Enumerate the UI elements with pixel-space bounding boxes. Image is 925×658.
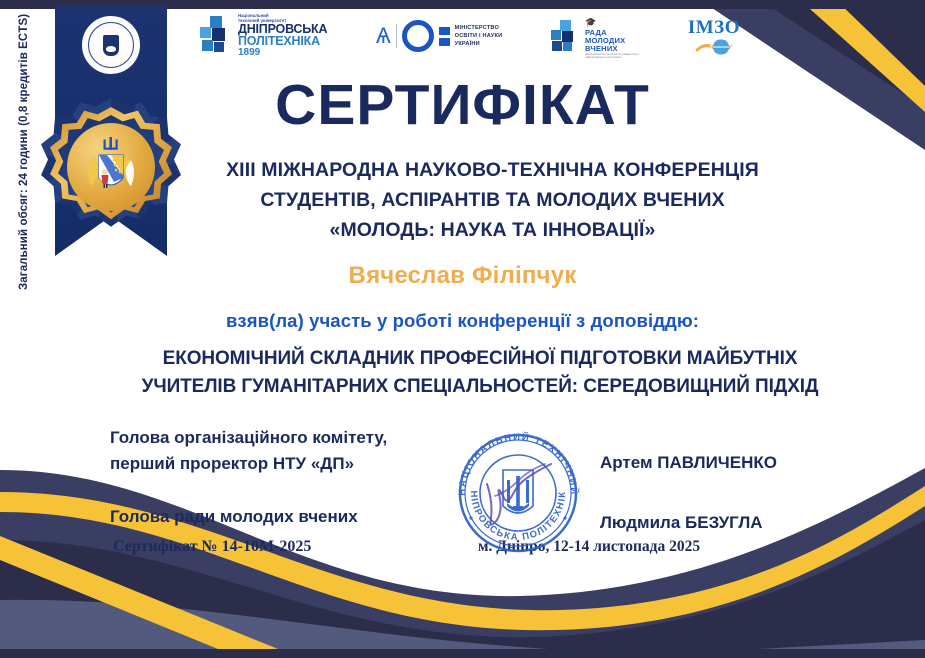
signature-names: Артем ПАВЛИЧЕНКО Людмила БЕЗУГЛА [600, 450, 900, 535]
rada-wordmark: 🎓 РАДА МОЛОДИХ ВЧЕНИХ Національного техн… [585, 13, 639, 60]
tryzub-icon: Ѧ [376, 25, 391, 47]
logo-council-young-scientists: 🎓 РАДА МОЛОДИХ ВЧЕНИХ Національного техн… [551, 13, 639, 60]
report-line-1: ЕКОНОМІЧНИЙ СКЛАДНИК ПРОФЕСІЙНОЇ ПІДГОТО… [60, 345, 900, 373]
certificate-number: Сертифікат № 14-10М-2025 [113, 538, 311, 556]
ministry-ring-icon [402, 20, 434, 52]
ministry-squares-icon [439, 27, 450, 46]
conference-line-1: XIII МІЖНАРОДНА НАУКОВО-ТЕХНІЧНА КОНФЕРЕ… [120, 155, 865, 185]
graduation-cap-icon: 🎓 [585, 17, 596, 27]
signature-1-role-line-1: Голова організаційного комітету, [110, 425, 470, 451]
header-logos: Національний технічний університет ДНІПР… [200, 8, 740, 64]
logo-dnipro-polytechnic: Національний технічний університет ДНІПР… [200, 14, 327, 57]
rada-sub-2: «Дніпровська політехніка» [585, 56, 639, 59]
imzo-globe-icon [696, 38, 732, 55]
page-title: СЕРТИФІКАТ [0, 72, 925, 138]
signature-1-name: Артем ПАВЛИЧЕНКО [600, 450, 900, 476]
logo-divider [396, 24, 397, 48]
ministry-line-2: ОСВІТИ І НАУКИ [455, 33, 503, 39]
report-line-2: УЧИТЕЛІВ ГУМАНІТАРНИХ СПЕЦІАЛЬНОСТЕЙ: СЕ… [60, 373, 900, 401]
dnipro-year: 1899 [238, 48, 327, 58]
total-hours-vertical-label: Загальний обсяг: 24 години (0,8 кредитів… [18, 14, 30, 290]
official-stamp: НАЦІОНАЛЬНИЙ ТЕХНІЧНИЙ ДНІПРОВСЬКА ПОЛІТ… [443, 418, 593, 568]
signature-1-role-line-2: перший проректор НТУ «ДП» [110, 451, 470, 477]
certificate-page: Загальний обсяг: 24 години (0,8 кредитів… [0, 0, 925, 658]
conference-line-3: «МОЛОДЬ: НАУКА ТА ІННОВАЦІЇ» [120, 215, 865, 245]
ministry-line-1: МІНІСТЕРСТВО [455, 25, 499, 31]
dnipro-wordmark: Національний технічний університет ДНІПР… [238, 14, 327, 57]
conference-line-2: СТУДЕНТІВ, АСПІРАНТІВ ТА МОЛОДИХ ВЧЕНИХ [120, 185, 865, 215]
conference-block: XIII МІЖНАРОДНА НАУКОВО-ТЕХНІЧНА КОНФЕРЕ… [120, 155, 865, 246]
report-title-block: ЕКОНОМІЧНИЙ СКЛАДНИК ПРОФЕСІЙНОЇ ПІДГОТО… [60, 345, 900, 400]
dnipro-blocks-icon [200, 16, 234, 56]
seal-inner-ring [88, 22, 134, 68]
ministry-wordmark: МІНІСТЕРСТВО ОСВІТИ І НАУКИ УКРАЇНИ [455, 24, 503, 48]
participation-text: взяв(ла) участь у роботі конференції з д… [0, 310, 925, 332]
seal-shield-icon [103, 35, 119, 56]
signature-roles: Голова організаційного комітету, перший … [110, 425, 470, 530]
dnipro-line-2: ПОЛІТЕХНІКА [238, 35, 327, 48]
signature-2-role-line-1: Голова ради молодих вчених [110, 504, 470, 530]
rada-blocks-icon [551, 20, 581, 52]
imzo-wordmark: ІМЗО [688, 17, 740, 38]
ministry-line-3: УКРАЇНИ [455, 41, 480, 47]
logo-imzo: ІМЗО [688, 18, 740, 55]
recipient-name: Вячеслав Філіпчук [0, 262, 925, 290]
young-scientists-council-seal [80, 14, 142, 76]
signature-2-name: Людмила БЕЗУГЛА [600, 510, 900, 536]
logo-ministry-of-education: Ѧ МІНІСТЕРСТВО ОСВІТИ І НАУКИ УКРАЇНИ [376, 20, 502, 52]
